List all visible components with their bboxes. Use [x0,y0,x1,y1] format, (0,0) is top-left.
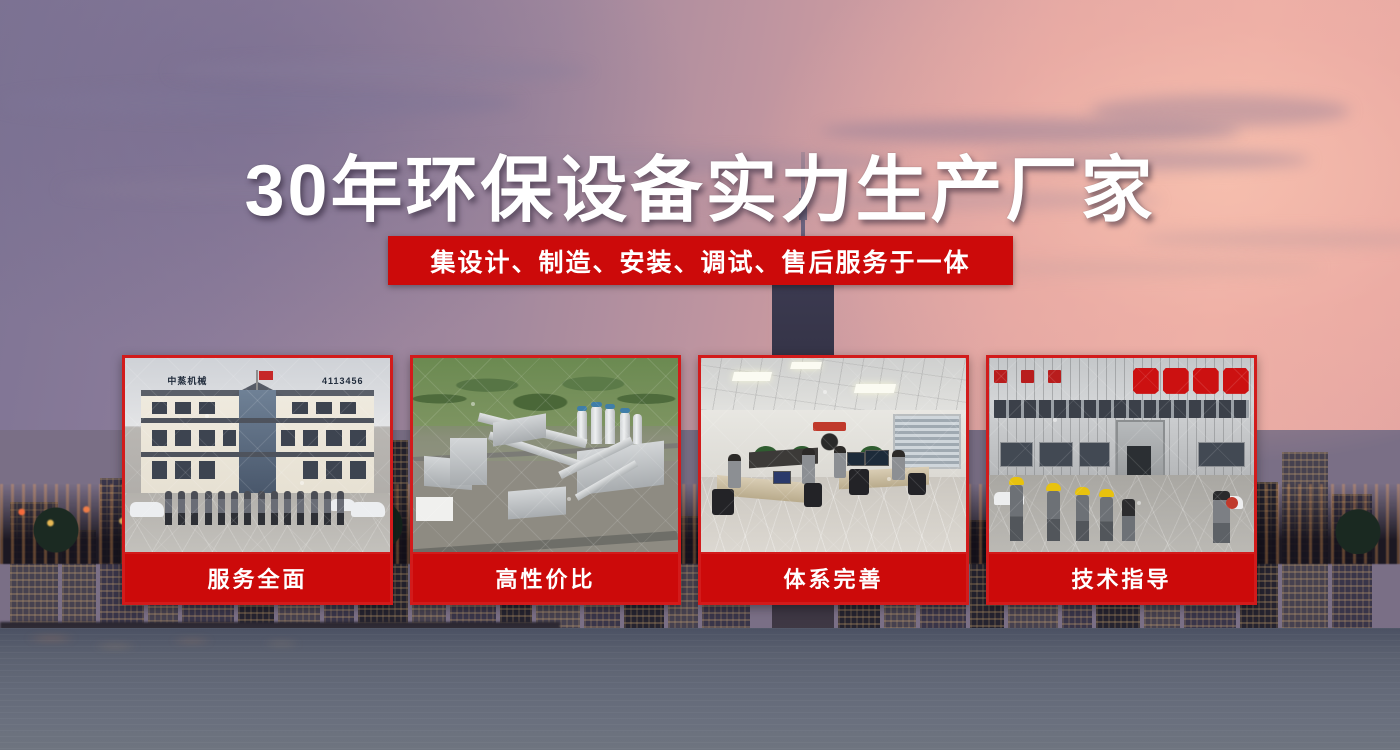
promo-banner-stage: 30年环保设备实力生产厂家 集设计、制造、安装、调试、售后服务于一体 中蒸机械 … [0,0,1400,750]
company-office-building-photo: 中蒸机械 4113456 [125,358,390,557]
factory-wall-small-slogan [994,370,1100,398]
feature-card-row: 中蒸机械 4113456 [122,355,1278,605]
water-shimmer [0,628,1400,750]
cloud-streak [1090,95,1350,127]
subtitle-banner: 集设计、制造、安装、调试、售后服务于一体 [388,236,1013,285]
river-water [0,628,1400,750]
cloud-streak [0,88,520,118]
factory-workers-training-photo [989,358,1254,557]
page-title: 30年环保设备实力生产厂家 [0,131,1400,236]
cloud-streak [170,60,590,82]
card-label: 高性价比 [413,552,678,602]
feature-card[interactable]: 技术指导 [986,355,1257,605]
factory-wall-slogan [1133,364,1249,398]
card-label: 体系完善 [701,552,966,602]
feature-card[interactable]: 中蒸机械 4113456 [122,355,393,605]
card-label: 技术指导 [989,552,1254,602]
feature-card[interactable]: 体系完善 [698,355,969,605]
building-phone-text: 4113456 [273,374,363,388]
subtitle-text: 集设计、制造、安装、调试、售后服务于一体 [430,243,970,279]
office-interior-photo [701,358,966,557]
card-label: 服务全面 [125,552,390,602]
building-sign-text: 中蒸机械 [167,374,257,388]
feature-card[interactable]: 高性价比 [410,355,681,605]
industrial-plant-aerial-photo [413,358,678,557]
